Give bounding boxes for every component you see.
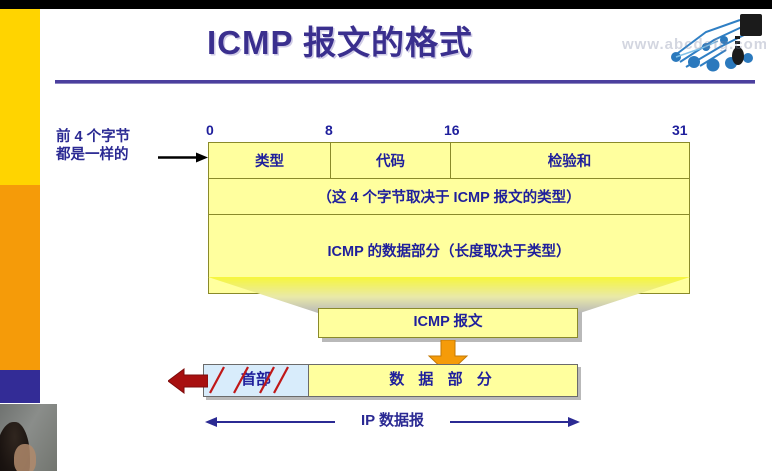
table-row: 类型 代码 检验和 (209, 143, 689, 179)
bit-mark-16: 16 (444, 122, 460, 138)
cell-depends-on-type: （这 4 个字节取决于 ICMP 报文的类型） (209, 179, 689, 214)
title-divider (55, 80, 755, 84)
slide-canvas: ICMP 报文的格式 (0, 0, 772, 471)
webcam-overlay (0, 404, 57, 471)
cell-code: 代码 (331, 143, 451, 178)
sidebar-segment-yellow (0, 9, 40, 185)
ip-datagram-span: IP 数据报 (205, 409, 580, 437)
cell-type: 类型 (209, 143, 331, 178)
ip-data-cell: 数 据 部 分 (309, 365, 577, 396)
page-title: ICMP 报文的格式 (40, 16, 640, 64)
bit-mark-0: 0 (206, 122, 214, 138)
red-left-arrow-icon (168, 368, 208, 394)
annotation-first-4-bytes: 前 4 个字节 都是一样的 (56, 128, 130, 164)
ip-datagram-span-label: IP 数据报 (205, 409, 580, 430)
ip-datagram-row: 首部 数 据 部 分 (203, 364, 578, 397)
top-black-bar (0, 0, 772, 9)
network-circuit-logo-icon: www.abcdefg.com (614, 10, 766, 76)
annotation-line-2: 都是一样的 (56, 146, 130, 164)
annotation-line-1: 前 4 个字节 (56, 128, 130, 146)
bit-mark-8: 8 (325, 122, 333, 138)
watermark-text: www.abcdefg.com (622, 36, 766, 53)
cell-checksum: 检验和 (451, 143, 688, 178)
ip-header-cell: 首部 (204, 365, 309, 396)
icmp-header-table: 类型 代码 检验和 （这 4 个字节取决于 ICMP 报文的类型） ICMP 的… (208, 142, 690, 294)
sidebar-segment-blue (0, 370, 40, 403)
sidebar-segment-orange (0, 185, 40, 370)
webcam-person-face (14, 444, 36, 471)
ip-header-label: 首部 (241, 371, 271, 388)
table-row: （这 4 个字节取决于 ICMP 报文的类型） (209, 179, 689, 215)
bit-mark-31: 31 (672, 122, 688, 138)
annotation-pointer-arrow-icon (158, 150, 208, 161)
icmp-message-box: ICMP 报文 (318, 308, 578, 338)
